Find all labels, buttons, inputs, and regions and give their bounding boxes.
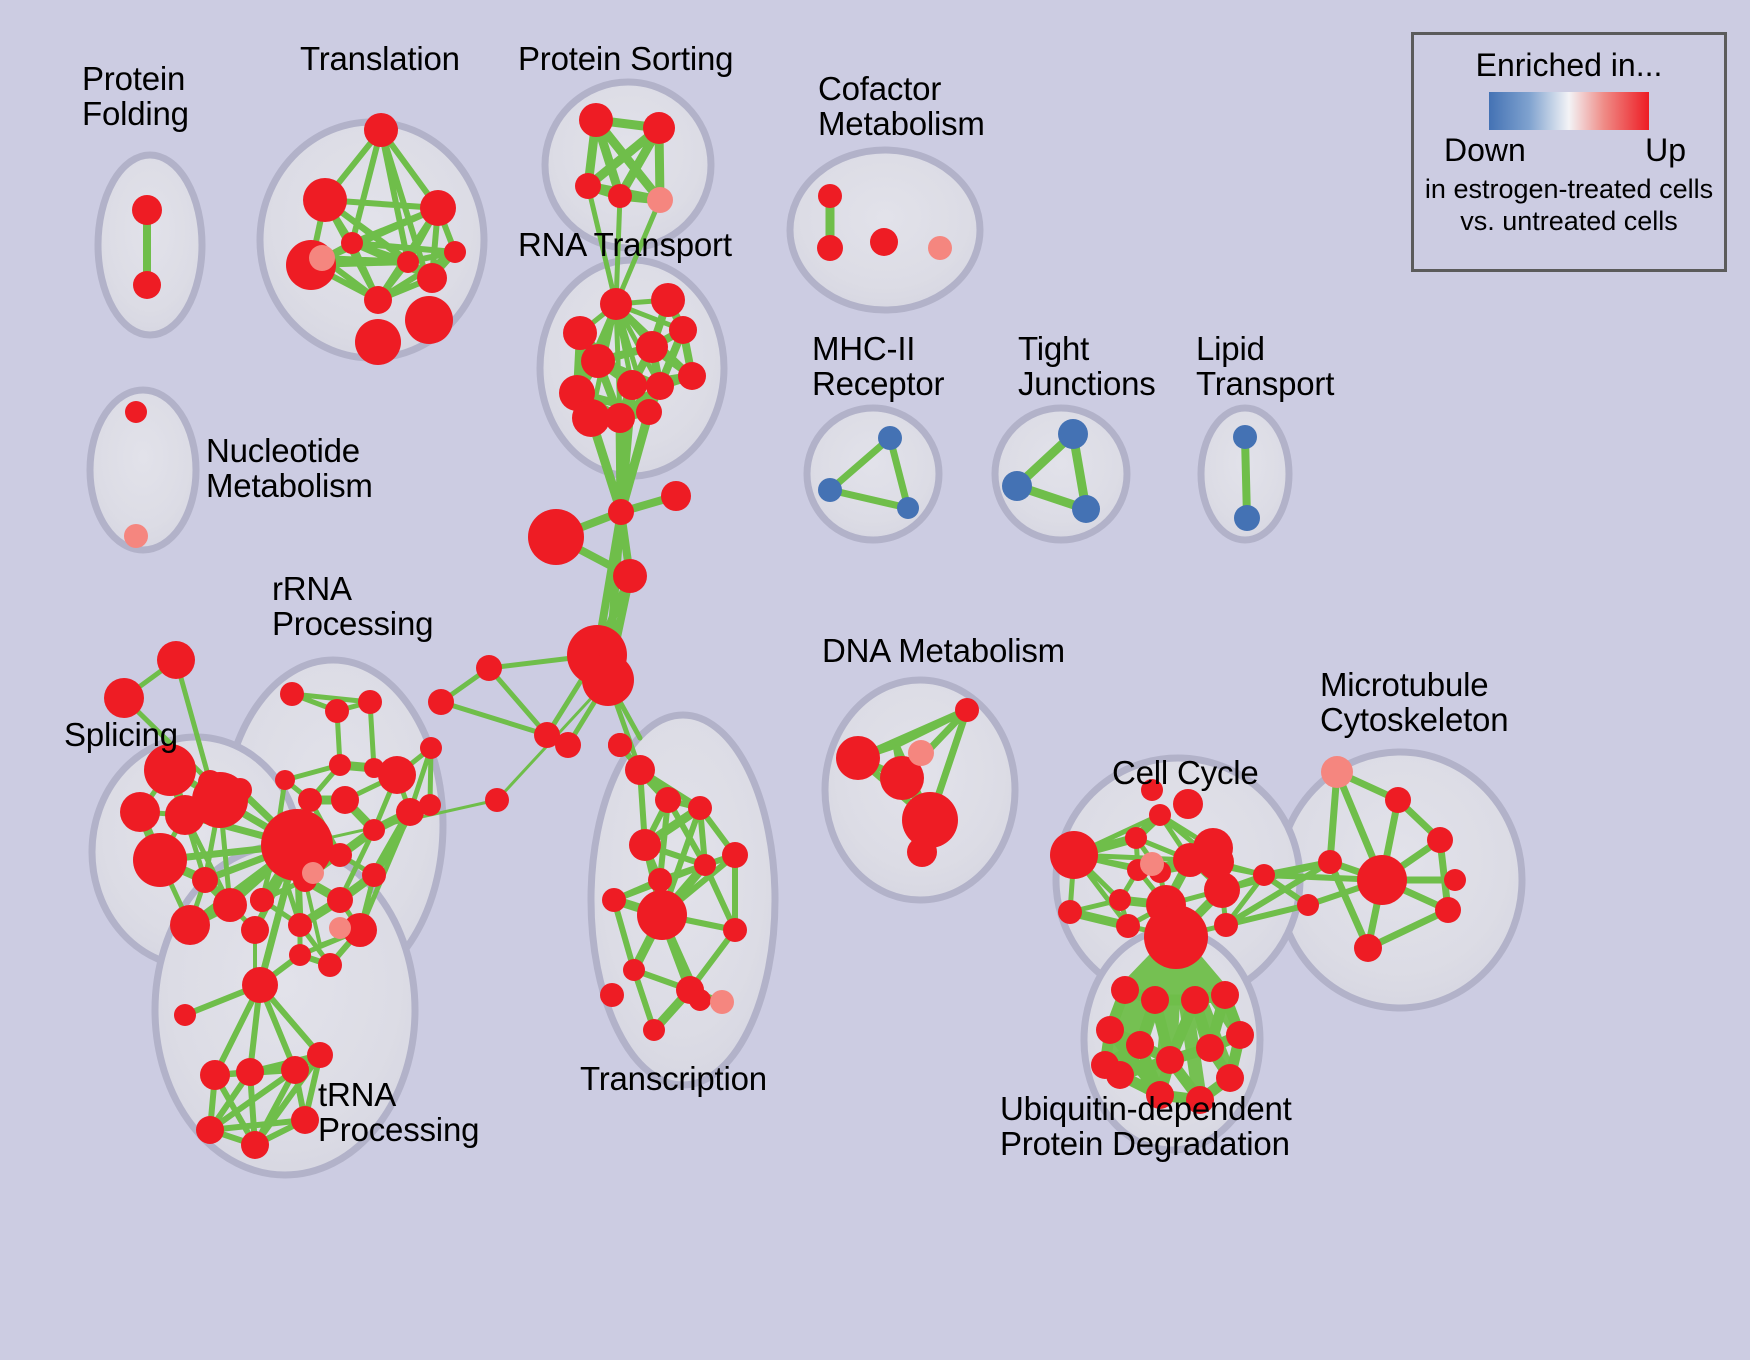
legend-caption-line-2: vs. untreated cells bbox=[1414, 206, 1724, 236]
cluster-label-tight-junctions: Tight Junctions bbox=[1018, 332, 1156, 402]
node bbox=[125, 401, 147, 423]
node bbox=[1204, 872, 1240, 908]
node bbox=[1058, 419, 1088, 449]
node bbox=[1226, 1021, 1254, 1049]
node bbox=[241, 1131, 269, 1159]
node bbox=[364, 286, 392, 314]
node bbox=[651, 283, 685, 317]
node bbox=[397, 251, 419, 273]
node bbox=[236, 1058, 264, 1086]
node bbox=[303, 178, 347, 222]
node bbox=[133, 271, 161, 299]
node bbox=[1111, 976, 1139, 1004]
network-figure: Protein Folding Translation Protein Sort… bbox=[0, 0, 1750, 1360]
node-weak bbox=[710, 990, 734, 1014]
node bbox=[228, 778, 252, 802]
node bbox=[1144, 905, 1208, 969]
node bbox=[213, 888, 247, 922]
node bbox=[636, 331, 668, 363]
node bbox=[1181, 986, 1209, 1014]
cluster-label-rna-transport: RNA Transport bbox=[518, 228, 732, 263]
legend-box: Enriched in... Down Up in estrogen-treat… bbox=[1411, 32, 1727, 272]
node bbox=[878, 426, 902, 450]
node bbox=[1216, 1064, 1244, 1092]
node bbox=[1058, 900, 1082, 924]
node bbox=[120, 792, 160, 832]
node bbox=[617, 370, 647, 400]
node bbox=[1072, 495, 1100, 523]
node bbox=[817, 235, 843, 261]
node bbox=[694, 854, 716, 876]
node bbox=[1318, 850, 1342, 874]
node bbox=[165, 795, 205, 835]
node bbox=[132, 195, 162, 225]
node bbox=[1173, 789, 1203, 819]
node bbox=[476, 655, 502, 681]
node bbox=[341, 232, 363, 254]
node bbox=[364, 113, 398, 147]
node bbox=[643, 112, 675, 144]
cluster-label-trna-processing: tRNA Processing bbox=[318, 1078, 479, 1148]
node bbox=[1253, 864, 1275, 886]
node bbox=[1125, 827, 1147, 849]
node bbox=[608, 499, 634, 525]
node bbox=[192, 867, 218, 893]
node bbox=[600, 288, 632, 320]
node bbox=[722, 842, 748, 868]
node bbox=[281, 1056, 309, 1084]
node bbox=[563, 316, 597, 350]
node bbox=[1385, 787, 1411, 813]
hull-mhc-ii bbox=[807, 408, 939, 540]
node bbox=[818, 184, 842, 208]
node bbox=[637, 890, 687, 940]
cluster-label-nucleotide-metabolism: Nucleotide Metabolism bbox=[206, 434, 373, 504]
node-weak bbox=[309, 245, 335, 271]
node bbox=[318, 953, 342, 977]
node bbox=[329, 754, 351, 776]
node bbox=[378, 756, 416, 794]
node bbox=[572, 399, 610, 437]
node-weak bbox=[928, 236, 952, 260]
node bbox=[241, 916, 269, 944]
node bbox=[629, 829, 661, 861]
node bbox=[623, 959, 645, 981]
node bbox=[655, 787, 681, 813]
node bbox=[575, 173, 601, 199]
node bbox=[363, 819, 385, 841]
node bbox=[689, 989, 711, 1011]
node bbox=[870, 228, 898, 256]
node bbox=[289, 944, 311, 966]
node bbox=[608, 733, 632, 757]
node bbox=[405, 296, 453, 344]
node-weak bbox=[302, 862, 324, 884]
node bbox=[280, 682, 304, 706]
node bbox=[1354, 934, 1382, 962]
cluster-label-ubiquitin: Ubiquitin-dependent Protein Degradation bbox=[1000, 1092, 1292, 1162]
node bbox=[613, 559, 647, 593]
cluster-label-protein-sorting: Protein Sorting bbox=[518, 42, 733, 77]
node bbox=[1444, 869, 1466, 891]
node-weak bbox=[124, 524, 148, 548]
node bbox=[836, 736, 880, 780]
node bbox=[602, 888, 626, 912]
node bbox=[417, 263, 447, 293]
node bbox=[818, 478, 842, 502]
node bbox=[1211, 981, 1239, 1009]
legend-high-label: Up bbox=[1645, 132, 1686, 169]
node bbox=[1002, 471, 1032, 501]
node bbox=[362, 863, 386, 887]
node bbox=[307, 1042, 333, 1068]
node bbox=[955, 698, 979, 722]
node bbox=[420, 190, 456, 226]
node bbox=[1234, 505, 1260, 531]
node bbox=[1109, 889, 1131, 911]
node bbox=[608, 184, 632, 208]
node bbox=[444, 241, 466, 263]
node bbox=[325, 699, 349, 723]
node bbox=[643, 1019, 665, 1041]
node bbox=[133, 833, 187, 887]
node bbox=[174, 1004, 196, 1026]
node-weak bbox=[1140, 852, 1164, 876]
legend-low-label: Down bbox=[1444, 132, 1526, 169]
node-weak bbox=[908, 740, 934, 766]
node bbox=[600, 983, 624, 1007]
node bbox=[907, 837, 937, 867]
node bbox=[485, 788, 509, 812]
node bbox=[298, 788, 322, 812]
legend-color-gradient-bar bbox=[1489, 92, 1649, 130]
node bbox=[170, 905, 210, 945]
cluster-label-cell-cycle: Cell Cycle bbox=[1112, 756, 1259, 791]
legend-title: Enriched in... bbox=[1414, 47, 1724, 84]
node bbox=[355, 319, 401, 365]
node bbox=[1141, 986, 1169, 1014]
node bbox=[605, 403, 635, 433]
node bbox=[327, 887, 353, 913]
cluster-label-cofactor-metabolism: Cofactor Metabolism bbox=[818, 72, 985, 142]
node-weak bbox=[1321, 756, 1353, 788]
node bbox=[250, 888, 274, 912]
node bbox=[420, 737, 442, 759]
node bbox=[646, 372, 674, 400]
node bbox=[419, 794, 441, 816]
cluster-label-microtubule: Microtubule Cytoskeleton bbox=[1320, 668, 1508, 738]
node bbox=[1149, 804, 1171, 826]
node bbox=[1196, 1034, 1224, 1062]
node bbox=[242, 967, 278, 1003]
node bbox=[678, 362, 706, 390]
node bbox=[1435, 897, 1461, 923]
node bbox=[1156, 1046, 1184, 1074]
node-weak bbox=[647, 187, 673, 213]
node bbox=[582, 654, 634, 706]
cluster-label-splicing: Splicing bbox=[64, 718, 178, 753]
legend-caption-line-1: in estrogen-treated cells bbox=[1414, 174, 1724, 204]
node bbox=[157, 641, 195, 679]
cluster-label-lipid-transport: Lipid Transport bbox=[1196, 332, 1334, 402]
node bbox=[723, 918, 747, 942]
node bbox=[196, 1116, 224, 1144]
node bbox=[1126, 1031, 1154, 1059]
node bbox=[528, 509, 584, 565]
node bbox=[1214, 913, 1238, 937]
legend-endpoints: Down Up bbox=[1430, 132, 1708, 172]
cluster-label-translation: Translation bbox=[300, 42, 460, 77]
node-weak bbox=[329, 917, 351, 939]
node bbox=[636, 399, 662, 425]
node bbox=[358, 690, 382, 714]
node bbox=[661, 481, 691, 511]
node bbox=[428, 689, 454, 715]
node bbox=[1297, 894, 1319, 916]
node bbox=[1427, 827, 1453, 853]
cluster-label-transcription: Transcription bbox=[580, 1062, 767, 1097]
node bbox=[579, 103, 613, 137]
cluster-label-dna-metabolism: DNA Metabolism bbox=[822, 634, 1065, 669]
node bbox=[1233, 425, 1257, 449]
node bbox=[1050, 831, 1098, 879]
node bbox=[200, 1060, 230, 1090]
node bbox=[648, 868, 672, 892]
node bbox=[669, 316, 697, 344]
node bbox=[625, 755, 655, 785]
node bbox=[288, 913, 312, 937]
node bbox=[1357, 855, 1407, 905]
cluster-label-protein-folding: Protein Folding bbox=[82, 62, 189, 132]
cluster-label-rrna-processing: rRNA Processing bbox=[272, 572, 433, 642]
node bbox=[331, 786, 359, 814]
node bbox=[1096, 1016, 1124, 1044]
node bbox=[275, 770, 295, 790]
node bbox=[104, 678, 144, 718]
cluster-label-mhc-ii-receptor: MHC-II Receptor bbox=[812, 332, 944, 402]
node bbox=[1106, 1061, 1134, 1089]
node bbox=[581, 344, 615, 378]
node bbox=[291, 1106, 319, 1134]
node bbox=[897, 497, 919, 519]
node bbox=[1116, 914, 1140, 938]
node bbox=[555, 732, 581, 758]
node bbox=[688, 796, 712, 820]
